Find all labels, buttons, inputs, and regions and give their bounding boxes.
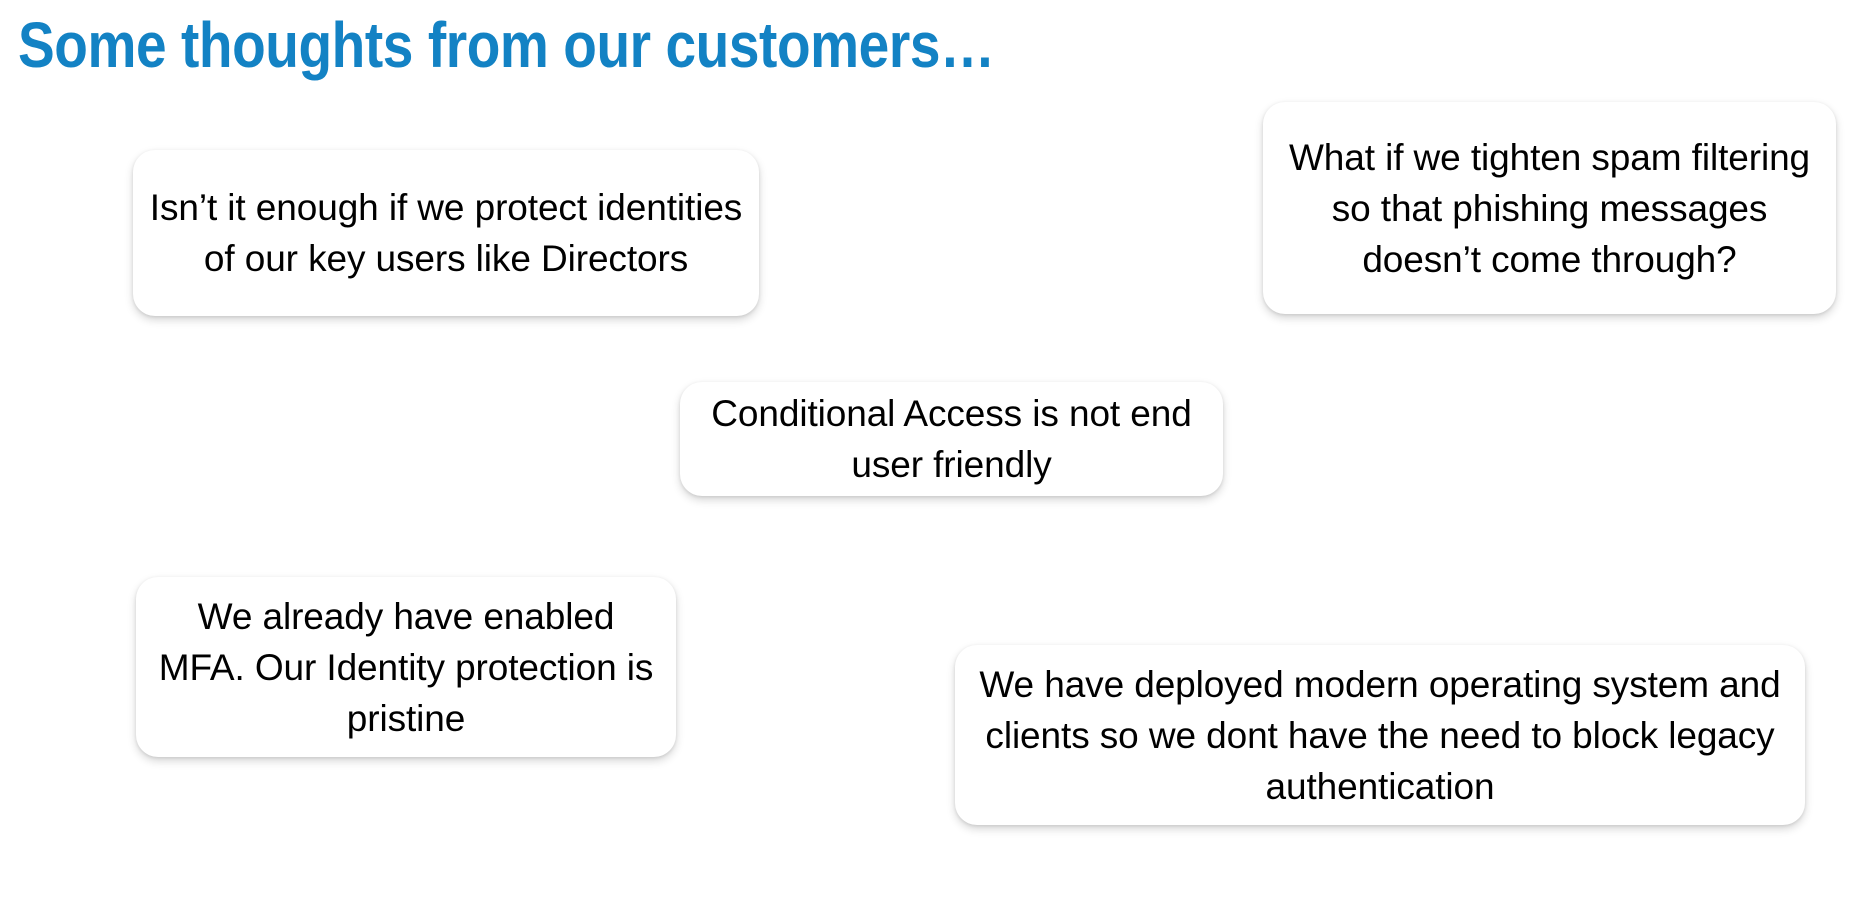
speech-bubble-mfa-identity[interactable]: We already have enabled MFA. Our Identit… <box>136 577 676 757</box>
speech-bubble-tail-icon <box>780 494 960 528</box>
speech-bubble-text: Isn’t it enough if we protect identities… <box>133 182 759 284</box>
slide-canvas: Some thoughts from our customers… Isn’t … <box>0 0 1866 914</box>
speech-bubble-text: What if we tighten spam filtering so tha… <box>1263 132 1836 285</box>
speech-bubble-body: What if we tighten spam filtering so tha… <box>1263 102 1836 314</box>
speech-bubble-tail-icon <box>251 314 447 354</box>
speech-bubble-tail-icon <box>204 755 394 793</box>
speech-bubble-body: We already have enabled MFA. Our Identit… <box>136 577 676 757</box>
speech-bubble-tail-icon <box>1383 312 1573 350</box>
speech-bubble-body: We have deployed modern operating system… <box>955 645 1805 825</box>
speech-bubble-body: Conditional Access is not end user frien… <box>680 382 1223 496</box>
speech-bubble-conditional-access[interactable]: Conditional Access is not end user frien… <box>680 382 1223 496</box>
speech-bubble-tail-icon <box>1000 823 1190 861</box>
speech-bubble-spam-filtering[interactable]: What if we tighten spam filtering so tha… <box>1263 102 1836 314</box>
speech-bubble-legacy-auth[interactable]: We have deployed modern operating system… <box>955 645 1805 825</box>
speech-bubble-text: We have deployed modern operating system… <box>955 659 1805 812</box>
speech-bubble-key-users[interactable]: Isn’t it enough if we protect identities… <box>133 150 759 316</box>
speech-bubble-text: We already have enabled MFA. Our Identit… <box>136 591 676 744</box>
page-title: Some thoughts from our customers… <box>18 6 1308 84</box>
speech-bubble-text: Conditional Access is not end user frien… <box>680 388 1223 490</box>
speech-bubble-body: Isn’t it enough if we protect identities… <box>133 150 759 316</box>
